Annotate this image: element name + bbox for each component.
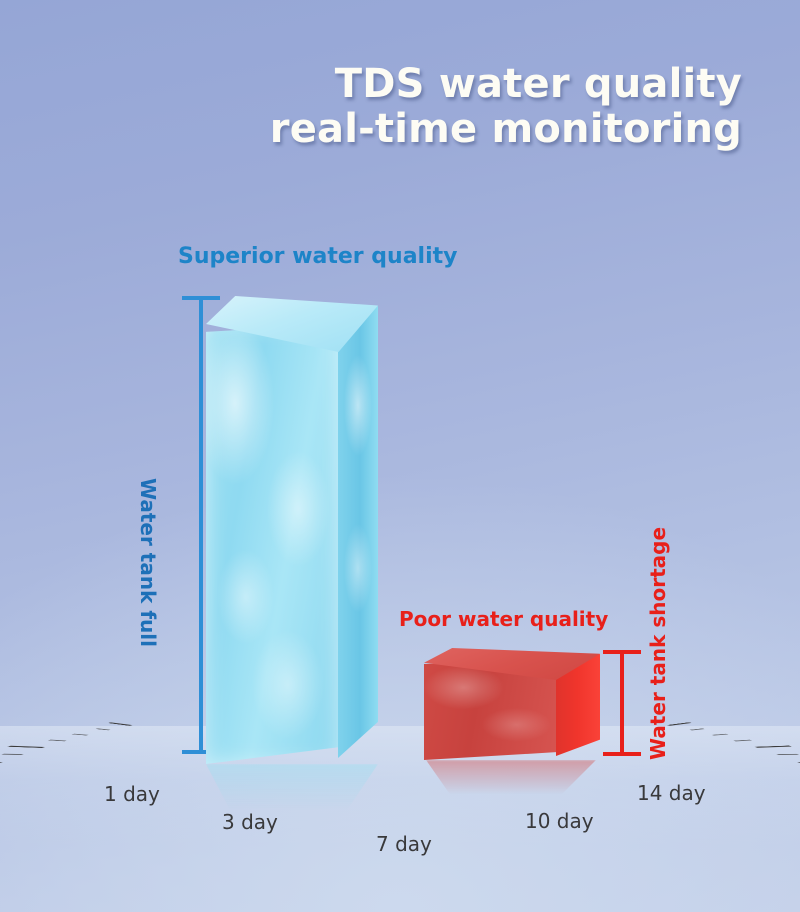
- ice-block-blue-side-face: [338, 306, 378, 758]
- label-water-tank-shortage: Water tank shortage: [646, 527, 670, 760]
- ice-block-superior-water: [206, 296, 378, 764]
- page-title: TDS water quality real-time monitoring: [0, 62, 742, 152]
- poster-canvas: TDS water quality real-time monitoring S…: [0, 0, 800, 912]
- axis-label-day-3: 3 day: [222, 810, 278, 834]
- ice-block-poor-water: [424, 648, 600, 768]
- axis-label-day-14: 14 day: [637, 781, 706, 805]
- label-superior-water-quality: Superior water quality: [178, 244, 458, 269]
- measure-stem-red: [620, 650, 624, 756]
- measure-cap-bottom-red: [603, 752, 641, 756]
- axis-label-day-7: 7 day: [376, 832, 432, 856]
- axis-label-day-10: 10 day: [525, 809, 594, 833]
- measure-stem-blue: [199, 296, 203, 754]
- ice-block-blue-front-face: [206, 324, 338, 764]
- label-poor-water-quality: Poor water quality: [399, 607, 608, 631]
- measure-bar-water-tank-shortage: [603, 650, 641, 756]
- label-water-tank-full: Water tank full: [136, 478, 160, 647]
- axis-label-day-1: 1 day: [104, 782, 160, 806]
